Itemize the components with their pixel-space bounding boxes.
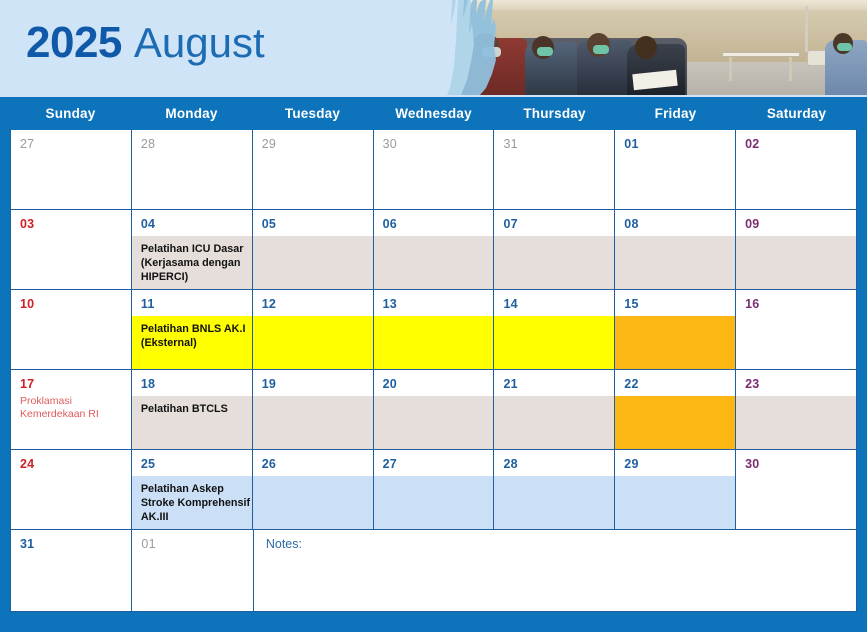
day-cell[interactable]: 14 <box>494 290 615 369</box>
calendar-header: 2025 August <box>0 0 867 97</box>
event-band <box>615 316 735 369</box>
day-cell[interactable]: 30 <box>736 450 856 529</box>
day-cell[interactable]: 28 <box>132 130 253 209</box>
event-label: Pelatihan ICU Dasar (Kerjasama dengan HI… <box>141 242 253 284</box>
day-number: 26 <box>262 457 276 471</box>
week-row: 03 04Pelatihan ICU Dasar (Kerjasama deng… <box>11 210 856 290</box>
day-cell[interactable]: 18Pelatihan BTCLS <box>132 370 253 449</box>
day-cell[interactable]: 30 <box>374 130 495 209</box>
day-number: 15 <box>624 297 638 311</box>
day-number: 31 <box>503 137 517 151</box>
day-number: 23 <box>745 377 759 391</box>
holiday-note: Proklamasi Kemerdekaan RI <box>20 395 132 421</box>
weekday-saturday: Saturday <box>736 97 857 130</box>
day-cell[interactable]: 12 <box>253 290 374 369</box>
day-cell[interactable]: 27 <box>374 450 495 529</box>
calendar-title: 2025 August <box>26 18 265 68</box>
day-cell[interactable]: 06 <box>374 210 495 289</box>
event-band <box>494 396 614 449</box>
event-band <box>736 236 856 289</box>
day-number: 30 <box>383 137 397 151</box>
brush-stroke-decoration <box>430 0 500 95</box>
day-cell[interactable]: 29 <box>253 130 374 209</box>
day-number: 06 <box>383 217 397 231</box>
day-number: 12 <box>262 297 276 311</box>
day-number: 18 <box>141 377 155 391</box>
week-row: 10 11Pelatihan BNLS AK.I (Eksternal) 12 … <box>11 290 856 370</box>
day-cell[interactable]: 16 <box>736 290 856 369</box>
week-row: 24 25Pelatihan Askep Stroke Komprehensif… <box>11 450 856 530</box>
day-number: 16 <box>745 297 759 311</box>
day-cell[interactable]: 02 <box>736 130 856 209</box>
weekday-monday: Monday <box>131 97 252 130</box>
event-band <box>615 396 735 449</box>
title-month: August <box>134 19 265 67</box>
day-number: 01 <box>624 137 638 151</box>
day-number: 19 <box>262 377 276 391</box>
day-cell[interactable]: 13 <box>374 290 495 369</box>
day-number: 20 <box>383 377 397 391</box>
day-cell[interactable]: 22 <box>615 370 736 449</box>
day-cell[interactable]: 01 <box>615 130 736 209</box>
day-number: 27 <box>383 457 397 471</box>
day-number: 07 <box>503 217 517 231</box>
day-cell[interactable]: 28 <box>494 450 615 529</box>
day-number: 17 <box>20 377 34 391</box>
title-year: 2025 <box>26 18 122 68</box>
event-band <box>494 476 614 529</box>
event-band <box>253 316 373 369</box>
weekday-header-row: Sunday Monday Tuesday Wednesday Thursday… <box>10 97 857 130</box>
day-number: 02 <box>745 137 759 151</box>
day-cell[interactable]: 08 <box>615 210 736 289</box>
day-cell[interactable]: 09 <box>736 210 856 289</box>
day-cell[interactable]: 03 <box>11 210 132 289</box>
event-band <box>615 476 735 529</box>
event-band <box>253 476 373 529</box>
weekday-thursday: Thursday <box>494 97 615 130</box>
day-cell[interactable]: 10 <box>11 290 132 369</box>
event-label: Pelatihan BNLS AK.I (Eksternal) <box>141 322 253 350</box>
day-number: 01 <box>141 537 155 551</box>
event-band <box>374 316 494 369</box>
day-number: 09 <box>745 217 759 231</box>
day-cell[interactable]: 17Proklamasi Kemerdekaan RI <box>11 370 132 449</box>
training-session-photo <box>437 0 867 95</box>
day-number: 30 <box>745 457 759 471</box>
day-number: 08 <box>624 217 638 231</box>
day-number: 29 <box>262 137 276 151</box>
event-band <box>494 236 614 289</box>
weekday-wednesday: Wednesday <box>373 97 494 130</box>
day-cell[interactable]: 23 <box>736 370 856 449</box>
day-number: 28 <box>141 137 155 151</box>
day-number: 31 <box>20 537 34 551</box>
weekday-tuesday: Tuesday <box>252 97 373 130</box>
notes-area[interactable]: Notes: <box>254 530 856 611</box>
day-number: 13 <box>383 297 397 311</box>
day-cell[interactable]: 27 <box>11 130 132 209</box>
day-number: 29 <box>624 457 638 471</box>
event-band <box>615 236 735 289</box>
day-cell[interactable]: 21 <box>494 370 615 449</box>
weekday-sunday: Sunday <box>10 97 131 130</box>
event-band <box>736 396 856 449</box>
day-number: 24 <box>20 457 34 471</box>
weekday-friday: Friday <box>615 97 736 130</box>
calendar-grid: Sunday Monday Tuesday Wednesday Thursday… <box>0 97 867 632</box>
day-number: 04 <box>141 217 155 231</box>
weeks-container: 27 28 29 30 31 01 02 03 04Pelatihan ICU … <box>10 130 857 612</box>
day-cell[interactable]: 24 <box>11 450 132 529</box>
event-band <box>494 316 614 369</box>
day-cell[interactable]: 05 <box>253 210 374 289</box>
day-cell[interactable]: 19 <box>253 370 374 449</box>
day-cell[interactable]: 11Pelatihan BNLS AK.I (Eksternal) <box>132 290 253 369</box>
day-number: 28 <box>503 457 517 471</box>
day-cell[interactable]: 20 <box>374 370 495 449</box>
notes-label: Notes: <box>266 537 302 551</box>
day-cell[interactable]: 26 <box>253 450 374 529</box>
week-row: 27 28 29 30 31 01 02 <box>11 130 856 210</box>
day-number: 11 <box>141 297 155 311</box>
day-number: 25 <box>141 457 155 471</box>
day-cell[interactable]: 01 <box>132 530 253 611</box>
day-cell[interactable]: 31 <box>494 130 615 209</box>
event-band <box>374 236 494 289</box>
day-number: 10 <box>20 297 34 311</box>
day-number: 14 <box>503 297 517 311</box>
event-band <box>253 396 373 449</box>
day-number: 27 <box>20 137 34 151</box>
calendar-page: 2025 August Sunday Monday Tuesday Wednes… <box>0 0 867 632</box>
day-number: 21 <box>503 377 517 391</box>
day-number: 22 <box>624 377 638 391</box>
week-row-notes: 31 01 Notes: <box>11 530 856 611</box>
event-band <box>374 396 494 449</box>
event-label: Pelatihan Askep Stroke Komprehensif AK.I… <box>141 482 253 524</box>
day-cell[interactable]: 29 <box>615 450 736 529</box>
day-cell[interactable]: 25Pelatihan Askep Stroke Komprehensif AK… <box>132 450 253 529</box>
day-cell[interactable]: 15 <box>615 290 736 369</box>
day-number: 05 <box>262 217 276 231</box>
event-band <box>253 236 373 289</box>
day-cell[interactable]: 04Pelatihan ICU Dasar (Kerjasama dengan … <box>132 210 253 289</box>
day-cell[interactable]: 31 <box>11 530 132 611</box>
week-row: 17Proklamasi Kemerdekaan RI 18Pelatihan … <box>11 370 856 450</box>
event-band <box>374 476 494 529</box>
day-cell[interactable]: 07 <box>494 210 615 289</box>
day-number: 03 <box>20 217 34 231</box>
event-label: Pelatihan BTCLS <box>141 402 253 416</box>
